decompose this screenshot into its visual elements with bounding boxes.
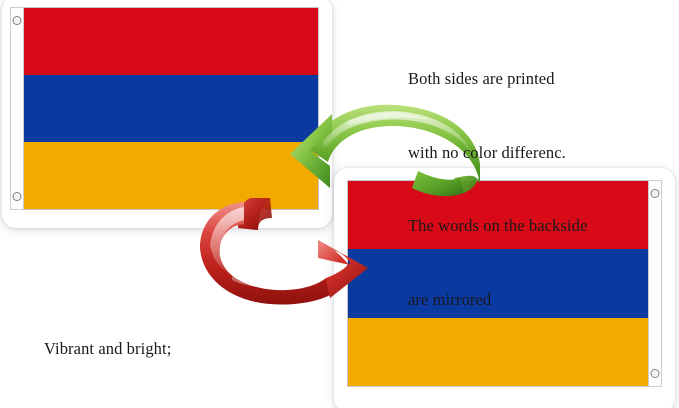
- caption-line: are mirrored: [408, 288, 587, 313]
- flag-band-red: [24, 8, 318, 75]
- red-curved-arrow: [192, 196, 368, 300]
- top-caption-text: Both sides are printed with no color dif…: [408, 18, 587, 361]
- grommet-icon: [651, 369, 660, 378]
- grommet-icon: [13, 192, 22, 201]
- product-feature-image: Both sides are printed with no color dif…: [0, 0, 679, 408]
- front-flag-body: [24, 7, 319, 210]
- grommet-icon: [13, 16, 22, 25]
- grommet-icon: [651, 189, 660, 198]
- caption-line: The words on the backside: [408, 214, 587, 239]
- front-flag-hoist-sleeve: [10, 7, 24, 210]
- caption-line: Both sides are printed: [408, 67, 587, 92]
- back-flag-hoist-sleeve: [648, 180, 662, 387]
- bottom-caption-text: Vibrant and bright; Fade resistance; Dur…: [44, 288, 222, 408]
- front-flag-card: [2, 0, 332, 228]
- caption-line: Vibrant and bright;: [44, 337, 222, 362]
- caption-line: with no color differenc.: [408, 141, 587, 166]
- flag-band-blue: [24, 75, 318, 142]
- front-flag: [10, 7, 319, 210]
